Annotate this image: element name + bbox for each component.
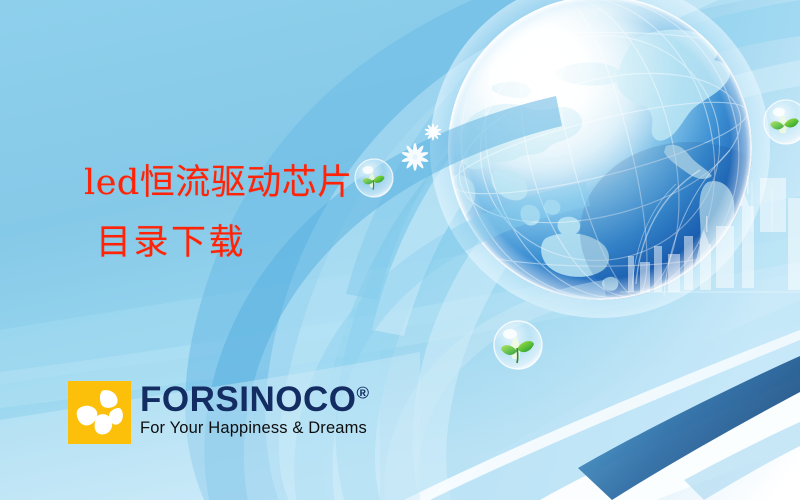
company-logo[interactable]: FORSINOCO® For Your Happiness & Dreams	[68, 381, 369, 444]
registered-trademark-icon: ®	[356, 383, 369, 402]
brand-tagline: For Your Happiness & Dreams	[140, 419, 369, 438]
four-petal-pinwheel-mark	[68, 381, 131, 444]
logo-wordmark: FORSINOCO® For Your Happiness & Dreams	[140, 381, 369, 438]
banner-canvas: led恒流驱动芯片 目录下载 FORSINOCO®	[0, 0, 800, 500]
brand-text: FORSINOCO	[140, 380, 356, 419]
brand-name: FORSINOCO®	[140, 383, 369, 417]
